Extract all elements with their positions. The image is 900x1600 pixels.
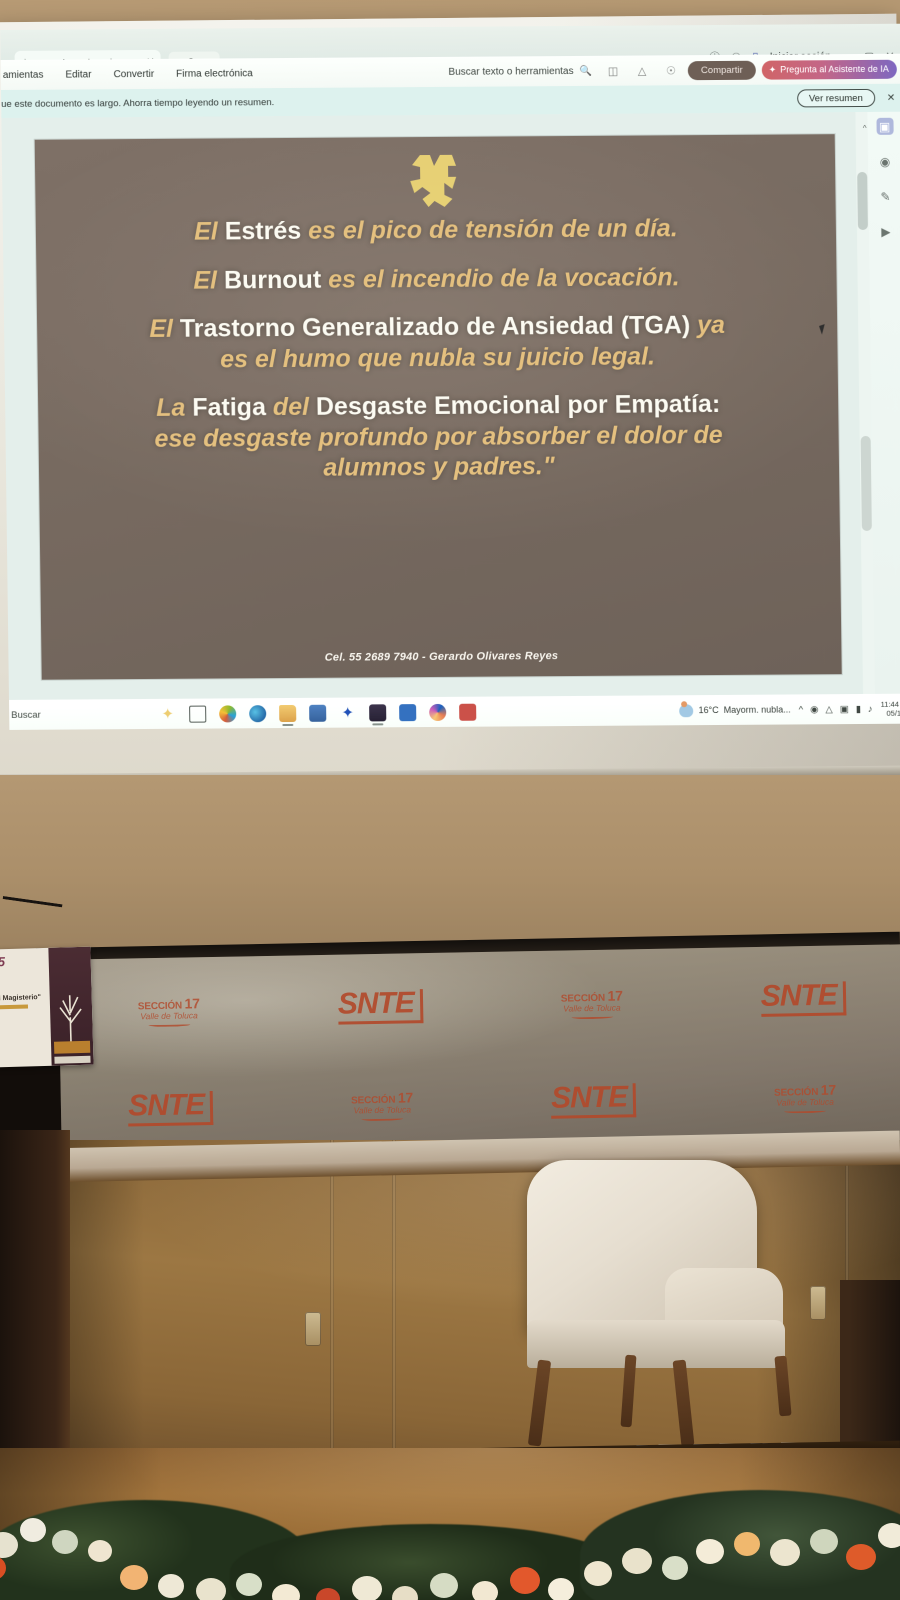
search-input[interactable]: Buscar texto o herramientas 🔍 bbox=[448, 65, 592, 77]
wall-seam bbox=[392, 1140, 396, 1470]
toolbar-right-group[interactable]: Buscar texto o herramientas 🔍 ◫ △ ☉ Comp… bbox=[448, 54, 897, 87]
edge-copilot-icon[interactable] bbox=[219, 705, 236, 722]
slide-line-7: alumnos y padres." bbox=[55, 449, 823, 485]
search-icon[interactable]: 🔍 bbox=[579, 65, 592, 76]
line2-part3: es el incendio de la vocación. bbox=[321, 263, 680, 294]
adobe-scan-icon[interactable]: ◉ bbox=[876, 153, 893, 170]
poster-title-fragment: l Magisterio" bbox=[0, 994, 47, 1002]
battery-icon[interactable]: ▮ bbox=[856, 703, 861, 714]
weather-widget[interactable]: 16°C Mayorm. nubla... bbox=[679, 703, 790, 717]
slide-line-4: es el humo que nubla su juicio legal. bbox=[53, 340, 821, 376]
taskbar-search[interactable]: Buscar bbox=[9, 709, 41, 720]
search-placeholder: Buscar texto o herramientas bbox=[448, 65, 573, 77]
clock-time: 11:44 a bbox=[881, 700, 900, 709]
firefox-icon[interactable] bbox=[429, 703, 446, 720]
chair-leg bbox=[774, 1356, 791, 1417]
pdf-page: El Estrés es el pico de tensión de un dí… bbox=[35, 134, 842, 680]
microsoft-store-icon[interactable] bbox=[309, 704, 326, 721]
line2-part2: Burnout bbox=[224, 265, 322, 294]
stage-left-post bbox=[0, 1130, 70, 1480]
menu-item-editar[interactable]: Editar bbox=[65, 69, 91, 80]
menu-item-herramientas[interactable]: amientas bbox=[3, 69, 44, 80]
weather-condition: Mayorm. nubla... bbox=[724, 704, 791, 714]
scrollbar-thumb-secondary[interactable] bbox=[861, 436, 872, 531]
projected-windows-desktop[interactable]: ☆ Derecho Educativo ... ✕ + Crear ⓘ ☉ ▯ … bbox=[0, 6, 900, 730]
poster-band bbox=[54, 1041, 91, 1054]
line5-part1: La bbox=[156, 394, 192, 422]
weather-temp: 16°C bbox=[698, 705, 718, 715]
slide-line-1: El Estrés es el pico de tensión de un dí… bbox=[52, 212, 820, 248]
chair-leg bbox=[673, 1360, 695, 1447]
chair-seat bbox=[527, 1320, 785, 1368]
menu-bar[interactable]: amientas Editar Convertir Firma electrón… bbox=[1, 68, 253, 81]
share-button[interactable]: Compartir bbox=[688, 60, 756, 79]
poster-left-panel: 5 l Magisterio" bbox=[0, 948, 51, 1067]
ver-resumen-button[interactable]: Ver resumen bbox=[797, 89, 875, 108]
taskbar-clock[interactable]: 11:44 a 05/10 bbox=[881, 700, 900, 718]
menu-item-firma-electronica[interactable]: Firma electrónica bbox=[176, 68, 253, 80]
slide-line-6: ese desgaste profundo por absorber el do… bbox=[54, 419, 822, 455]
slide-line-5: La Fatiga del Desgaste Emocional por Emp… bbox=[54, 388, 822, 424]
banner-snte-wordmark: SNTE bbox=[761, 982, 847, 1017]
chair-leg bbox=[528, 1360, 551, 1447]
stage-flower-arrangement bbox=[0, 1480, 900, 1600]
ai-assistant-label: Pregunta al Asistente de IA bbox=[780, 64, 889, 75]
task-view-icon[interactable] bbox=[189, 705, 206, 722]
edge-icon[interactable] bbox=[249, 705, 266, 722]
clock-date: 05/10 bbox=[881, 709, 900, 718]
dropbox-icon[interactable]: ✦ bbox=[339, 704, 356, 721]
scroll-up-arrow[interactable]: ^ bbox=[863, 124, 867, 133]
network-icon[interactable]: ▣ bbox=[840, 704, 849, 715]
notification-text: ue este documento es largo. Ahorra tiemp… bbox=[1, 97, 274, 110]
notification-actions[interactable]: Ver resumen ✕ bbox=[797, 84, 896, 113]
poster-right-panel bbox=[48, 947, 94, 1066]
line5-part3: del bbox=[266, 393, 316, 421]
notification-dismiss-icon[interactable]: ✕ bbox=[887, 92, 896, 103]
white-armchair bbox=[505, 1160, 835, 1450]
line1-part2: Estrés bbox=[225, 217, 302, 246]
assistant-panel-icon[interactable]: ▣ bbox=[876, 118, 893, 135]
wall-seam bbox=[330, 1140, 334, 1470]
banner-snte-wordmark: SNTE bbox=[128, 1091, 214, 1126]
system-tray[interactable]: 16°C Mayorm. nubla... ^ ◉ △ ▣ ▮ ♪ 11:44 … bbox=[679, 694, 900, 726]
edit-pdf-icon[interactable]: ✎ bbox=[877, 188, 894, 205]
banner-snte-wordmark: SNTE bbox=[338, 989, 424, 1024]
pdf-viewer[interactable]: El Estrés es el pico de tensión de un dí… bbox=[1, 112, 900, 700]
snte-step-and-repeat-banner: SECCIÓN 17 Valle de Toluca SNTE SECCIÓN … bbox=[58, 944, 900, 1160]
dark-app-icon[interactable] bbox=[369, 704, 386, 721]
poster-accent-bar bbox=[0, 1004, 28, 1009]
partly-cloudy-icon bbox=[679, 704, 693, 717]
tree-illustration-icon bbox=[53, 991, 88, 1044]
slide-line-2: El Burnout es el incendio de la vocación… bbox=[52, 261, 820, 297]
auditorium-mid-wall bbox=[0, 775, 900, 955]
banner-seccion-block: SECCIÓN 17 Valle de Toluca bbox=[138, 995, 201, 1027]
scrollbar-thumb[interactable] bbox=[857, 172, 868, 230]
volume-icon[interactable]: ♪ bbox=[868, 703, 873, 714]
poster-headline: 5 bbox=[0, 953, 46, 969]
tray-icon-group[interactable]: ^ ◉ △ ▣ ▮ ♪ bbox=[799, 703, 873, 715]
banner-seccion-block: SECCIÓN 17 Valle de Toluca bbox=[774, 1081, 837, 1113]
copilot-icon[interactable]: ✦ bbox=[159, 705, 176, 722]
banner-snte-wordmark: SNTE bbox=[551, 1083, 637, 1118]
acrobat-reader-icon[interactable] bbox=[459, 703, 476, 720]
onedrive-icon[interactable]: ◉ bbox=[810, 704, 818, 715]
file-explorer-icon[interactable] bbox=[279, 704, 296, 721]
line3-part2: Trastorno Generalizado de Ansiedad (TGA) bbox=[180, 311, 691, 343]
line3-part1: El bbox=[149, 315, 180, 343]
chevron-up-icon[interactable]: ^ bbox=[799, 704, 804, 715]
pages-icon[interactable]: ◫ bbox=[606, 64, 620, 78]
line3-part3: ya bbox=[690, 311, 725, 339]
line2-part1: El bbox=[193, 266, 224, 294]
gold-triskelion-logo bbox=[400, 149, 471, 211]
banner-seccion-block: SECCIÓN 17 Valle de Toluca bbox=[561, 987, 624, 1019]
toolbar-icon-group[interactable]: ◫ △ ☉ bbox=[606, 63, 678, 78]
line5-part4: Desgaste Emocional por Empatía: bbox=[316, 390, 721, 421]
upload-cloud-icon[interactable]: △ bbox=[635, 63, 649, 77]
security-icon[interactable]: △ bbox=[825, 704, 832, 715]
banner-seccion-block: SECCIÓN 17 Valle de Toluca bbox=[351, 1089, 414, 1121]
ai-assistant-button[interactable]: ✦ Pregunta al Asistente de IA bbox=[762, 59, 897, 79]
sparkle-ai-icon: ✦ bbox=[769, 64, 777, 75]
banner-logo-grid: SECCIÓN 17 Valle de Toluca SNTE SECCIÓN … bbox=[58, 944, 900, 1160]
slide-line-3: El Trastorno Generalizado de Ansiedad (T… bbox=[53, 309, 821, 345]
wall-outlet bbox=[305, 1312, 321, 1346]
windows-taskbar[interactable]: Buscar ✦ ✦ 16°C Mayorm. nubla... bbox=[9, 694, 900, 730]
line1-part3: es el pico de tensión de un día. bbox=[301, 214, 678, 245]
poster-subtext bbox=[0, 970, 46, 977]
conference-room-photo: ☆ Derecho Educativo ... ✕ + Crear ⓘ ☉ ▯ … bbox=[0, 0, 900, 1600]
event-poster: 5 l Magisterio" bbox=[0, 947, 94, 1068]
line5-part2: Fatiga bbox=[192, 393, 266, 422]
menu-item-convertir[interactable]: Convertir bbox=[113, 68, 154, 79]
slide-text-block: El Estrés es el pico de tensión de un dí… bbox=[52, 212, 823, 485]
comment-pen-icon[interactable]: ▶ bbox=[877, 223, 894, 240]
line1-part1: El bbox=[194, 217, 225, 245]
taskbar-app-icons[interactable]: ✦ ✦ bbox=[159, 697, 476, 729]
comment-icon[interactable]: ☉ bbox=[664, 63, 678, 77]
mail-icon[interactable] bbox=[399, 704, 416, 721]
poster-footer-band bbox=[54, 1056, 90, 1064]
